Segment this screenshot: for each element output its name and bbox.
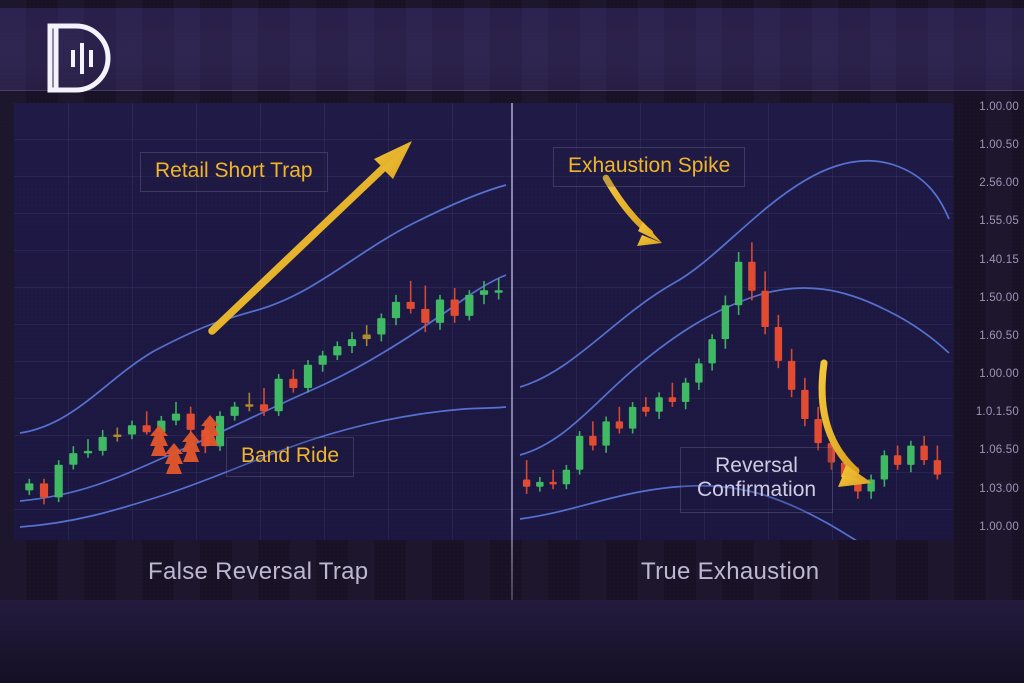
annotation-line-2: Confirmation — [697, 478, 816, 502]
annotation-exhaustion-spike[interactable]: Exhaustion Spike — [553, 147, 745, 187]
axis-tick: 1.60.50 — [979, 330, 1019, 342]
axis-tick: 1.00.00 — [979, 521, 1019, 533]
axis-tick: 2.56.00 — [979, 177, 1019, 189]
spike-pointer-arrow — [606, 178, 662, 246]
caption-left-panel: False Reversal Trap — [148, 558, 368, 586]
annotation-band-ride[interactable]: Band Ride — [226, 437, 354, 477]
panel-divider — [511, 103, 513, 600]
annotation-reversal-confirmation[interactable]: Reversal Confirmation — [680, 447, 833, 513]
annotation-line-1: Reversal — [697, 454, 816, 478]
axis-tick: 1.55.05 — [979, 215, 1019, 227]
axis-tick: 1.00.00 — [979, 368, 1019, 380]
caption-right-panel: True Exhaustion — [641, 558, 819, 586]
d-waveform-logo-icon — [42, 22, 124, 94]
footer-band — [0, 600, 1024, 683]
axis-tick: 1.06.50 — [979, 444, 1019, 456]
axis-tick: 1.50.00 — [979, 292, 1019, 304]
brand-logo — [42, 22, 124, 94]
axis-tick: 1.00.00 — [979, 101, 1019, 113]
axis-tick: 1.03.00 — [979, 483, 1019, 495]
axis-tick: 1.00.50 — [979, 139, 1019, 151]
annotation-retail-short-trap[interactable]: Retail Short Trap — [140, 152, 328, 192]
axis-tick: 1.0.1.50 — [976, 406, 1019, 418]
axis-tick: 1.40.15 — [979, 254, 1019, 266]
price-scale[interactable]: 1.00.00 1.00.50 2.56.00 1.55.05 1.40.15 … — [957, 103, 1024, 540]
